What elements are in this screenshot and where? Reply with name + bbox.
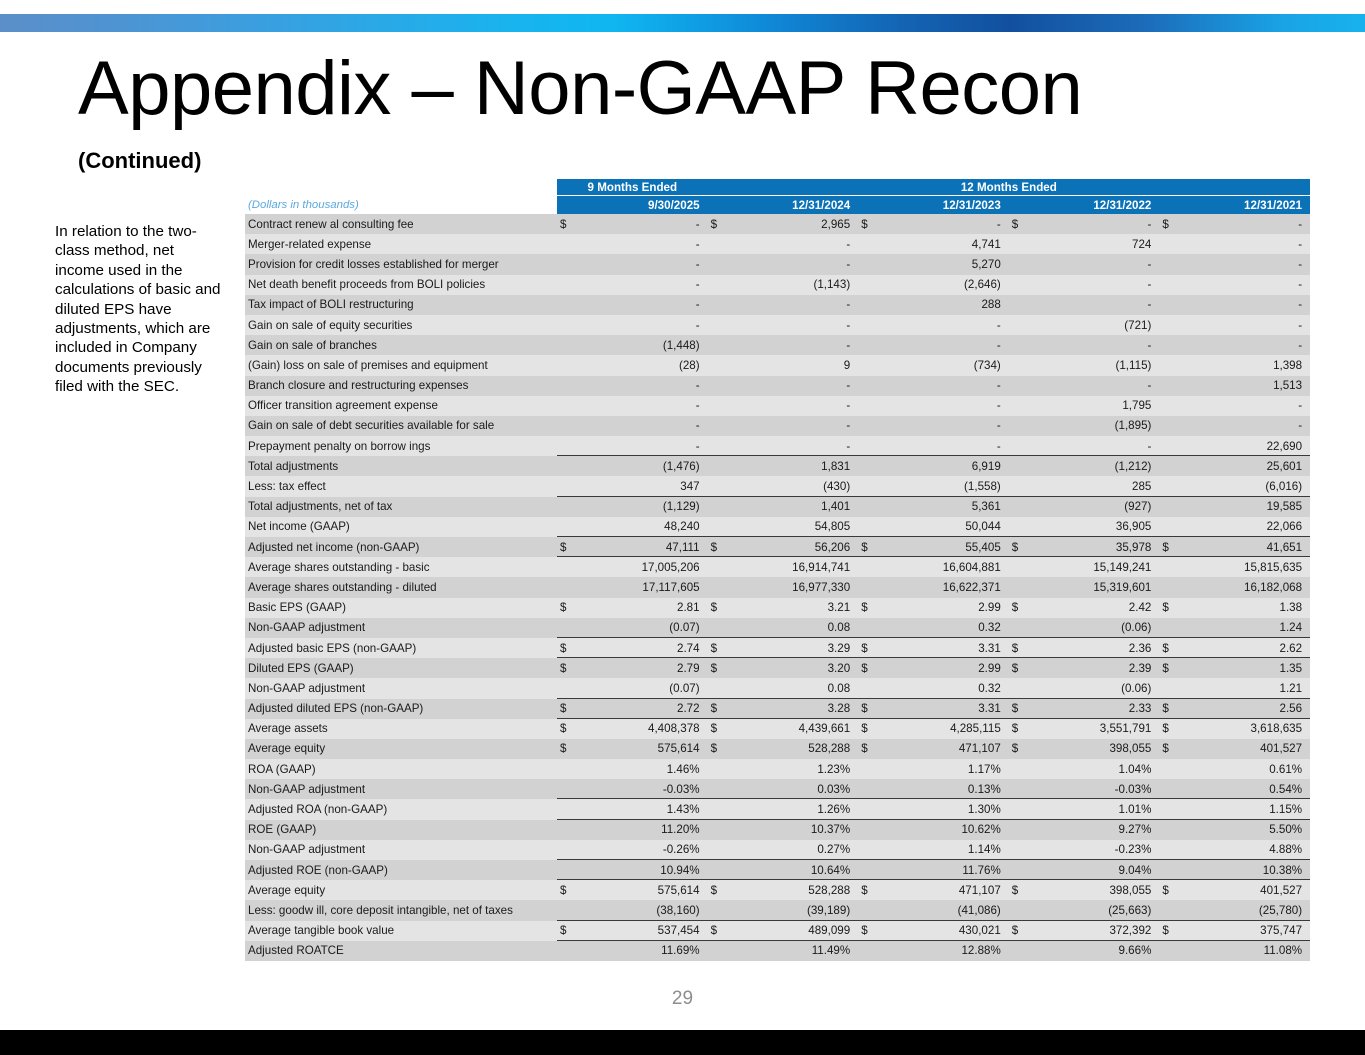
table-row: Non-GAAP adjustment-0.26%0.27%1.14%-0.23…: [245, 840, 1310, 860]
currency-symbol: $: [858, 880, 880, 900]
currency-symbol: [1159, 335, 1181, 355]
cell-value: 2.74: [579, 638, 708, 658]
cell-value: 1.01%: [1031, 799, 1160, 819]
cell-value: 48,240: [579, 517, 708, 537]
period-col-3-currency-spacer: [858, 196, 880, 215]
cell-value: -: [1031, 214, 1160, 234]
group-header-12-months: 12 Months Ended: [708, 179, 1310, 196]
currency-symbol: $: [557, 638, 579, 658]
currency-symbol: [557, 416, 579, 436]
row-label: ROE (GAAP): [245, 820, 557, 840]
table-row: Average shares outstanding - diluted17,1…: [245, 577, 1310, 597]
cell-value: 4,408,378: [579, 719, 708, 739]
currency-symbol: [708, 295, 730, 315]
non-gaap-reconciliation-table: 9 Months Ended 12 Months Ended (Dollars …: [245, 179, 1310, 961]
row-label: Adjusted net income (non-GAAP): [245, 537, 557, 557]
row-label: Net death benefit proceeds from BOLI pol…: [245, 275, 557, 295]
currency-symbol: [1159, 618, 1181, 638]
currency-symbol: [557, 860, 579, 880]
table-row: Adjusted ROATCE11.69%11.49%12.88%9.66%11…: [245, 941, 1310, 961]
cell-value: -: [579, 436, 708, 456]
cell-value: 9.04%: [1031, 860, 1160, 880]
non-gaap-reconciliation-table-wrap: 9 Months Ended 12 Months Ended (Dollars …: [245, 179, 1310, 961]
cell-value: 1.26%: [730, 799, 859, 819]
row-label: Gain on sale of branches: [245, 335, 557, 355]
row-label: (Gain) loss on sale of premises and equi…: [245, 355, 557, 375]
cell-value: 2.72: [579, 699, 708, 719]
cell-value: 6,919: [880, 456, 1009, 476]
currency-symbol: $: [1009, 638, 1031, 658]
currency-symbol: [1009, 295, 1031, 315]
cell-value: 10.94%: [579, 860, 708, 880]
cell-value: 5,361: [880, 497, 1009, 517]
period-header-12-31-2023: 12/31/2023: [880, 196, 1009, 215]
currency-symbol: [1009, 517, 1031, 537]
cell-value: (0.06): [1031, 678, 1160, 698]
currency-symbol: [557, 456, 579, 476]
cell-value: -: [1031, 275, 1160, 295]
cell-value: -0.03%: [1031, 779, 1160, 799]
cell-value: (1,143): [730, 275, 859, 295]
cell-value: 1.24: [1181, 618, 1310, 638]
currency-symbol: [557, 254, 579, 274]
currency-symbol: [858, 860, 880, 880]
cell-value: 1.38: [1181, 598, 1310, 618]
cell-value: (39,189): [730, 900, 859, 920]
cell-value: 285: [1031, 476, 1160, 496]
page-subtitle: (Continued): [78, 148, 201, 174]
cell-value: (721): [1031, 315, 1160, 335]
table-row: Gain on sale of equity securities---(721…: [245, 315, 1310, 335]
cell-value: 11.69%: [579, 941, 708, 961]
table-row: Less: tax effect347(430)(1,558)285(6,016…: [245, 476, 1310, 496]
cell-value: 2.42: [1031, 598, 1160, 618]
currency-symbol: [858, 840, 880, 860]
currency-symbol: [1159, 436, 1181, 456]
cell-value: 3.29: [730, 638, 859, 658]
table-row: Diluted EPS (GAAP)$2.79$3.20$2.99$2.39$1…: [245, 658, 1310, 678]
cell-value: 35,978: [1031, 537, 1160, 557]
currency-symbol: [858, 517, 880, 537]
cell-value: (6,016): [1181, 476, 1310, 496]
currency-symbol: [1159, 234, 1181, 254]
cell-value: -: [730, 315, 859, 335]
cell-value: 11.76%: [880, 860, 1009, 880]
cell-value: 471,107: [880, 880, 1009, 900]
row-label: Net income (GAAP): [245, 517, 557, 537]
currency-symbol: [708, 355, 730, 375]
currency-symbol: $: [1009, 214, 1031, 234]
cell-value: -0.26%: [579, 840, 708, 860]
cell-value: -: [730, 254, 859, 274]
currency-symbol: [858, 497, 880, 517]
cell-value: -: [880, 436, 1009, 456]
cell-value: -: [1181, 214, 1310, 234]
currency-symbol: [1009, 396, 1031, 416]
cell-value: -: [730, 436, 859, 456]
currency-symbol: [1159, 295, 1181, 315]
commentary-note: In relation to the two-class method, net…: [55, 222, 225, 397]
cell-value: 0.08: [730, 678, 859, 698]
currency-symbol: [1009, 779, 1031, 799]
cell-value: 19,585: [1181, 497, 1310, 517]
table-row: Adjusted ROA (non-GAAP)1.43%1.26%1.30%1.…: [245, 799, 1310, 819]
currency-symbol: [1009, 840, 1031, 860]
currency-symbol: [557, 275, 579, 295]
bottom-bar: [0, 1030, 1365, 1055]
cell-value: 16,182,068: [1181, 577, 1310, 597]
row-label: Prepayment penalty on borrow ings: [245, 436, 557, 456]
currency-symbol: [708, 456, 730, 476]
cell-value: 17,117,605: [579, 577, 708, 597]
cell-value: 528,288: [730, 880, 859, 900]
currency-symbol: [858, 275, 880, 295]
currency-symbol: [858, 476, 880, 496]
currency-symbol: $: [557, 699, 579, 719]
currency-symbol: [858, 335, 880, 355]
cell-value: 4,741: [880, 234, 1009, 254]
cell-value: 401,527: [1181, 880, 1310, 900]
row-label: Diluted EPS (GAAP): [245, 658, 557, 678]
currency-symbol: [1009, 618, 1031, 638]
table-row: Non-GAAP adjustment(0.07)0.080.32(0.06)1…: [245, 678, 1310, 698]
currency-symbol: [1009, 577, 1031, 597]
cell-value: (41,086): [880, 900, 1009, 920]
currency-symbol: [858, 577, 880, 597]
currency-symbol: $: [858, 719, 880, 739]
cell-value: 0.61%: [1181, 759, 1310, 779]
row-label: Tax impact of BOLI restructuring: [245, 295, 557, 315]
table-body: Contract renew al consulting fee$-$2,965…: [245, 214, 1310, 961]
cell-value: (0.07): [579, 678, 708, 698]
cell-value: -: [1031, 436, 1160, 456]
group-header-spacer: [245, 179, 557, 196]
cell-value: 398,055: [1031, 880, 1160, 900]
currency-symbol: [1009, 678, 1031, 698]
cell-value: 0.54%: [1181, 779, 1310, 799]
table-row: Net death benefit proceeds from BOLI pol…: [245, 275, 1310, 295]
currency-symbol: [1159, 476, 1181, 496]
cell-value: -0.23%: [1031, 840, 1160, 860]
currency-symbol: [1159, 799, 1181, 819]
table-row: Adjusted basic EPS (non-GAAP)$2.74$3.29$…: [245, 638, 1310, 658]
cell-value: -: [579, 234, 708, 254]
table-row: Contract renew al consulting fee$-$2,965…: [245, 214, 1310, 234]
table-row: Non-GAAP adjustment-0.03%0.03%0.13%-0.03…: [245, 779, 1310, 799]
currency-symbol: [858, 295, 880, 315]
currency-symbol: $: [1159, 658, 1181, 678]
currency-symbol: $: [708, 739, 730, 759]
currency-symbol: $: [708, 699, 730, 719]
cell-value: -: [1181, 416, 1310, 436]
currency-symbol: $: [708, 921, 730, 941]
currency-symbol: [557, 295, 579, 315]
table-row: Adjusted ROE (non-GAAP)10.94%10.64%11.76…: [245, 860, 1310, 880]
currency-symbol: [708, 396, 730, 416]
cell-value: 5,270: [880, 254, 1009, 274]
cell-value: 1.23%: [730, 759, 859, 779]
cell-value: 1.46%: [579, 759, 708, 779]
currency-symbol: [858, 779, 880, 799]
currency-symbol: [858, 618, 880, 638]
cell-value: (1,895): [1031, 416, 1160, 436]
period-header-9-30-2025: 9/30/2025: [579, 196, 708, 215]
table-row: Officer transition agreement expense---1…: [245, 396, 1310, 416]
cell-value: 1,401: [730, 497, 859, 517]
table-row: Gain on sale of debt securities availabl…: [245, 416, 1310, 436]
cell-value: 375,747: [1181, 921, 1310, 941]
cell-value: -: [579, 416, 708, 436]
currency-symbol: [557, 436, 579, 456]
period-col-4-currency-spacer: [1009, 196, 1031, 215]
cell-value: 15,149,241: [1031, 557, 1160, 577]
currency-symbol: $: [708, 214, 730, 234]
cell-value: 3.28: [730, 699, 859, 719]
currency-symbol: $: [1159, 921, 1181, 941]
currency-symbol: $: [557, 921, 579, 941]
currency-symbol: $: [858, 638, 880, 658]
currency-symbol: [1009, 376, 1031, 396]
currency-symbol: [1009, 436, 1031, 456]
table-row: Adjusted diluted EPS (non-GAAP)$2.72$3.2…: [245, 699, 1310, 719]
currency-symbol: [708, 557, 730, 577]
currency-symbol: [1159, 779, 1181, 799]
currency-symbol: [708, 779, 730, 799]
period-header-12-31-2024: 12/31/2024: [730, 196, 859, 215]
cell-value: 1.35: [1181, 658, 1310, 678]
table-row: Less: goodw ill, core deposit intangible…: [245, 900, 1310, 920]
cell-value: (1,212): [1031, 456, 1160, 476]
cell-value: -: [880, 214, 1009, 234]
table-row: Merger-related expense--4,741724-: [245, 234, 1310, 254]
cell-value: -: [880, 396, 1009, 416]
cell-value: -: [880, 335, 1009, 355]
cell-value: 10.37%: [730, 820, 859, 840]
row-label: Average assets: [245, 719, 557, 739]
table-row: Net income (GAAP)48,24054,80550,04436,90…: [245, 517, 1310, 537]
cell-value: 1,398: [1181, 355, 1310, 375]
group-header-9-months: 9 Months Ended: [557, 179, 708, 196]
currency-symbol: [708, 577, 730, 597]
currency-symbol: [1159, 860, 1181, 880]
currency-symbol: [858, 941, 880, 961]
cell-value: 10.62%: [880, 820, 1009, 840]
currency-symbol: [858, 900, 880, 920]
currency-symbol: [1009, 275, 1031, 295]
row-label: Branch closure and restructuring expense…: [245, 376, 557, 396]
period-col-5-currency-spacer: [1159, 196, 1181, 215]
currency-symbol: [1159, 416, 1181, 436]
currency-symbol: [708, 860, 730, 880]
table-row: Average shares outstanding - basic17,005…: [245, 557, 1310, 577]
currency-symbol: [1159, 315, 1181, 335]
cell-value: (25,663): [1031, 900, 1160, 920]
currency-symbol: [708, 476, 730, 496]
period-header-12-31-2022: 12/31/2022: [1031, 196, 1160, 215]
row-label: Average tangible book value: [245, 921, 557, 941]
cell-value: (0.06): [1031, 618, 1160, 638]
currency-symbol: [557, 820, 579, 840]
cell-value: 10.38%: [1181, 860, 1310, 880]
currency-symbol: $: [1159, 880, 1181, 900]
currency-symbol: [1159, 577, 1181, 597]
currency-symbol: $: [1009, 739, 1031, 759]
currency-symbol: [557, 759, 579, 779]
cell-value: (1,448): [579, 335, 708, 355]
cell-value: 10.64%: [730, 860, 859, 880]
currency-symbol: [708, 497, 730, 517]
currency-symbol: [708, 376, 730, 396]
currency-symbol: [557, 234, 579, 254]
table-row: Average equity$575,614$528,288$471,107$3…: [245, 739, 1310, 759]
cell-value: 2.56: [1181, 699, 1310, 719]
currency-symbol: $: [858, 537, 880, 557]
table-row: Gain on sale of branches(1,448)----: [245, 335, 1310, 355]
cell-value: 9: [730, 355, 859, 375]
currency-symbol: [858, 759, 880, 779]
cell-value: 1.15%: [1181, 799, 1310, 819]
currency-symbol: $: [858, 921, 880, 941]
row-label: Gain on sale of equity securities: [245, 315, 557, 335]
cell-value: 4,285,115: [880, 719, 1009, 739]
cell-value: 528,288: [730, 739, 859, 759]
cell-value: 347: [579, 476, 708, 496]
currency-symbol: $: [708, 598, 730, 618]
cell-value: 4.88%: [1181, 840, 1310, 860]
cell-value: 0.32: [880, 678, 1009, 698]
cell-value: -: [1181, 396, 1310, 416]
cell-value: -: [1181, 295, 1310, 315]
row-label: Non-GAAP adjustment: [245, 840, 557, 860]
period-col-1-currency-spacer: [557, 196, 579, 215]
currency-symbol: [557, 335, 579, 355]
currency-symbol: [1159, 900, 1181, 920]
cell-value: -: [579, 396, 708, 416]
cell-value: 0.27%: [730, 840, 859, 860]
cell-value: 22,690: [1181, 436, 1310, 456]
currency-symbol: [1159, 254, 1181, 274]
page-title: Appendix – Non-GAAP Recon: [78, 48, 1082, 130]
currency-symbol: [858, 456, 880, 476]
currency-symbol: [708, 678, 730, 698]
cell-value: 11.20%: [579, 820, 708, 840]
currency-symbol: $: [1159, 699, 1181, 719]
currency-symbol: $: [1009, 699, 1031, 719]
cell-value: 372,392: [1031, 921, 1160, 941]
cell-value: 16,914,741: [730, 557, 859, 577]
cell-value: -: [1031, 376, 1160, 396]
row-label: Total adjustments: [245, 456, 557, 476]
cell-value: 0.13%: [880, 779, 1009, 799]
row-label: Non-GAAP adjustment: [245, 618, 557, 638]
cell-value: 16,604,881: [880, 557, 1009, 577]
currency-symbol: [858, 416, 880, 436]
currency-symbol: [708, 335, 730, 355]
cell-value: 9.66%: [1031, 941, 1160, 961]
cell-value: 47,111: [579, 537, 708, 557]
currency-symbol: $: [557, 739, 579, 759]
currency-symbol: [1009, 941, 1031, 961]
currency-symbol: [557, 517, 579, 537]
currency-symbol: [708, 759, 730, 779]
cell-value: 0.03%: [730, 779, 859, 799]
currency-symbol: $: [1009, 658, 1031, 678]
currency-symbol: [557, 678, 579, 698]
cell-value: 1,513: [1181, 376, 1310, 396]
cell-value: -0.03%: [579, 779, 708, 799]
cell-value: 1.04%: [1031, 759, 1160, 779]
cell-value: (2,646): [880, 275, 1009, 295]
cell-value: (28): [579, 355, 708, 375]
row-label: Contract renew al consulting fee: [245, 214, 557, 234]
table-row: Tax impact of BOLI restructuring--288--: [245, 295, 1310, 315]
currency-symbol: [1159, 517, 1181, 537]
currency-symbol: $: [858, 739, 880, 759]
cell-value: 2,965: [730, 214, 859, 234]
cell-value: -: [1181, 335, 1310, 355]
currency-symbol: [1159, 759, 1181, 779]
cell-value: -: [579, 214, 708, 234]
row-label: Non-GAAP adjustment: [245, 678, 557, 698]
currency-symbol: [1159, 497, 1181, 517]
row-label: Gain on sale of debt securities availabl…: [245, 416, 557, 436]
currency-symbol: [1159, 678, 1181, 698]
row-label: Non-GAAP adjustment: [245, 779, 557, 799]
cell-value: 22,066: [1181, 517, 1310, 537]
currency-symbol: [708, 517, 730, 537]
currency-symbol: [708, 416, 730, 436]
currency-symbol: [858, 254, 880, 274]
currency-symbol: [557, 840, 579, 860]
currency-symbol: [858, 436, 880, 456]
cell-value: (734): [880, 355, 1009, 375]
currency-symbol: [557, 315, 579, 335]
currency-symbol: $: [557, 880, 579, 900]
table-row: Non-GAAP adjustment(0.07)0.080.32(0.06)1…: [245, 618, 1310, 638]
currency-symbol: $: [1009, 598, 1031, 618]
cell-value: 16,622,371: [880, 577, 1009, 597]
cell-value: -: [880, 376, 1009, 396]
currency-symbol: [1009, 335, 1031, 355]
row-label: ROA (GAAP): [245, 759, 557, 779]
currency-symbol: [858, 355, 880, 375]
table-row: Provision for credit losses established …: [245, 254, 1310, 274]
table-row: Total adjustments, net of tax(1,129)1,40…: [245, 497, 1310, 517]
currency-symbol: $: [1159, 598, 1181, 618]
cell-value: -: [1181, 275, 1310, 295]
currency-symbol: [1009, 456, 1031, 476]
cell-value: 430,021: [880, 921, 1009, 941]
currency-symbol: $: [858, 214, 880, 234]
cell-value: -: [1031, 295, 1160, 315]
currency-symbol: $: [708, 537, 730, 557]
currency-symbol: $: [1159, 638, 1181, 658]
row-label: Less: goodw ill, core deposit intangible…: [245, 900, 557, 920]
currency-symbol: [557, 476, 579, 496]
currency-symbol: [708, 900, 730, 920]
group-header-row: 9 Months Ended 12 Months Ended: [245, 179, 1310, 196]
table-row: Branch closure and restructuring expense…: [245, 376, 1310, 396]
currency-symbol: [708, 436, 730, 456]
currency-symbol: [708, 941, 730, 961]
cell-value: 2.81: [579, 598, 708, 618]
row-label: Adjusted ROE (non-GAAP): [245, 860, 557, 880]
cell-value: 471,107: [880, 739, 1009, 759]
currency-symbol: [858, 799, 880, 819]
currency-symbol: [557, 355, 579, 375]
cell-value: (1,129): [579, 497, 708, 517]
top-accent-bar: [0, 14, 1365, 32]
